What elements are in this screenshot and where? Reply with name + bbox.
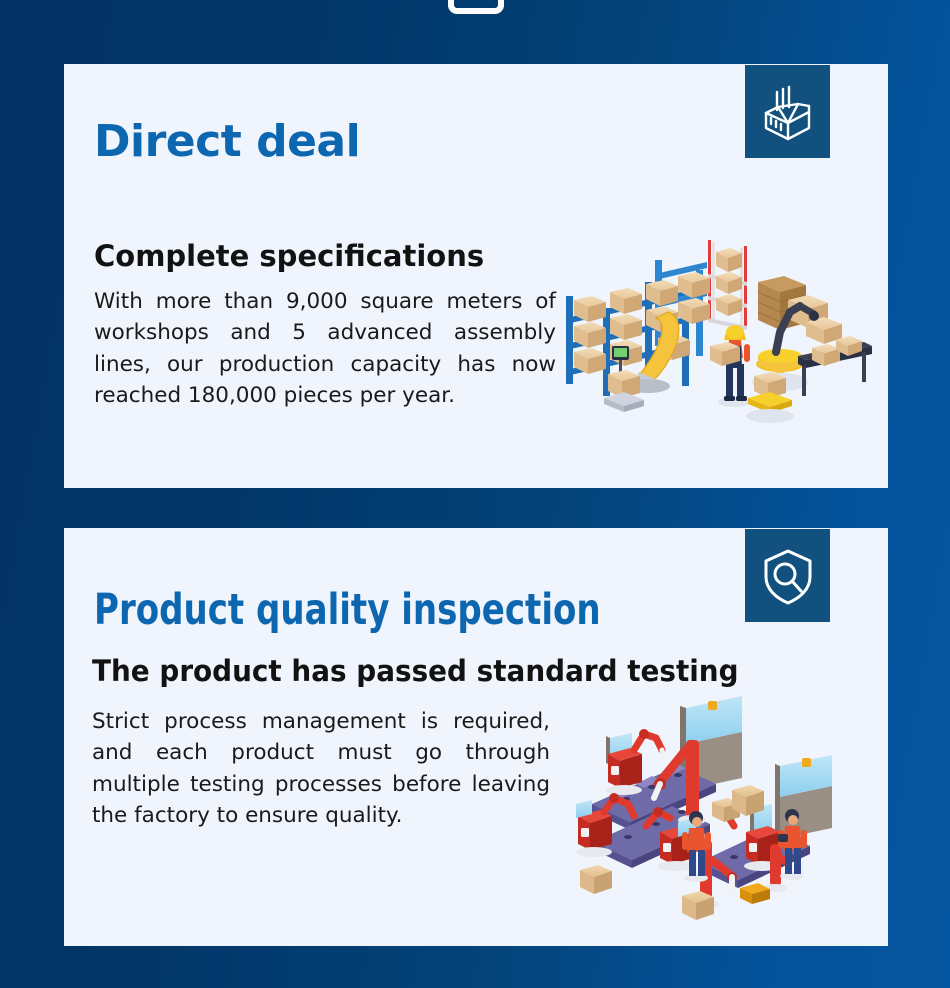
card-product-quality-inspection: Product quality inspection The product h… [64, 528, 888, 946]
rounded-rectangle-fragment-icon [448, 0, 504, 14]
card-subtitle: Complete specifications [94, 241, 484, 273]
factory-icon [757, 82, 819, 142]
card-body-text: Strict process management is required, a… [92, 706, 550, 832]
isometric-production-line-illustration [574, 694, 874, 924]
shield-search-icon-badge [745, 529, 830, 622]
card-title: Product quality inspection [94, 589, 601, 632]
card-body-text: With more than 9,000 square meters of wo… [94, 286, 556, 412]
shield-search-icon [758, 545, 818, 607]
isometric-warehouse-illustration [562, 234, 872, 434]
card-title: Direct deal [94, 120, 360, 164]
poster-root: Direct deal Complete specifications With… [0, 0, 950, 988]
factory-icon-badge [745, 65, 830, 158]
card-subtitle: The product has passed standard testing [92, 656, 739, 688]
card-direct-deal: Direct deal Complete specifications With… [64, 64, 888, 488]
